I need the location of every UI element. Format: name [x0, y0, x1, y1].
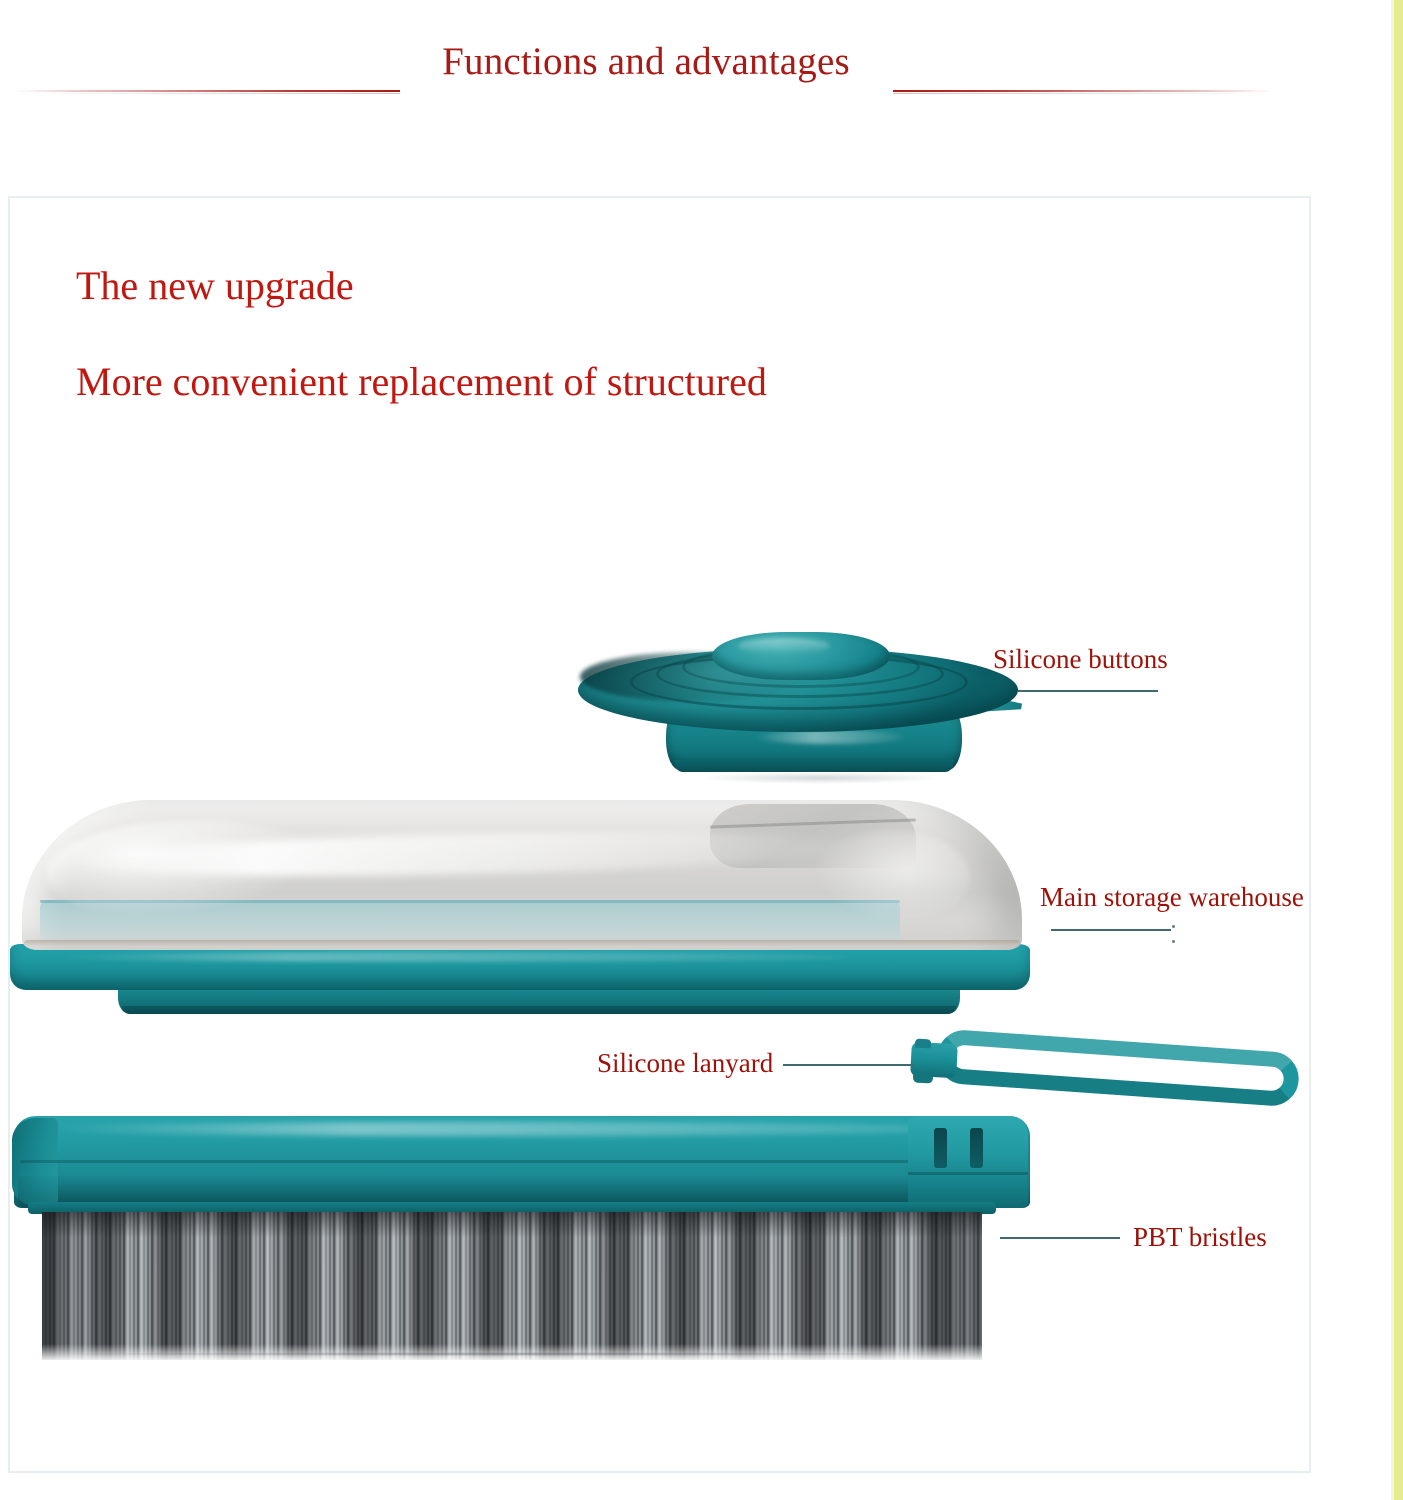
bristle-root-shadow [42, 1212, 982, 1238]
dome-gloss-right [810, 830, 970, 926]
edge-accent-stripe [1394, 0, 1403, 1500]
callout-label-silicone-lanyard: Silicone lanyard [597, 1047, 773, 1079]
callout-label-pbt-bristles: PBT bristles [1133, 1221, 1267, 1253]
brush-head-assembly [8, 1116, 1038, 1364]
cap-drop-shadow [696, 772, 944, 784]
page-title: Functions and advantages [396, 38, 896, 86]
storage-warehouse-assembly [10, 800, 1030, 1010]
brush-clip-mount [908, 1116, 1028, 1208]
lanyard-clip-notch [915, 1039, 931, 1049]
brush-body-seam-line [20, 1160, 980, 1163]
cap-base-foot [674, 760, 954, 772]
intro-heading-line-1: The new upgrade [76, 262, 354, 310]
leader-line-silicone-lanyard [783, 1064, 913, 1066]
cap-base-gloss [754, 730, 904, 744]
cap-center-button-gloss [738, 638, 830, 654]
title-rule-right-icon [893, 90, 1273, 92]
brush-clip-slot-right [970, 1128, 983, 1168]
storage-plinth-shadow [122, 1006, 956, 1014]
pbt-bristle-field [42, 1212, 982, 1360]
leader-line-pbt-bristles [1000, 1237, 1120, 1239]
silicone-lanyard-strap [905, 1035, 1305, 1107]
leader-line-main-storage-warehouse [1051, 929, 1171, 931]
brush-body-highlight [48, 1122, 948, 1136]
leader-line-silicone-buttons [1018, 690, 1158, 692]
silicone-button-cap [578, 632, 1020, 778]
brush-clip-edge [908, 1172, 1028, 1175]
title-rule-left-soft-icon [30, 93, 400, 94]
storage-teal-base [10, 944, 1030, 990]
dome-rim [24, 940, 1020, 946]
leader-dot-lower-main-storage [1172, 940, 1175, 943]
storage-base-gloss [50, 952, 850, 962]
lanyard-clip-tail [913, 1072, 933, 1083]
title-rule-left-icon [14, 90, 400, 92]
callout-label-main-storage-warehouse: Main storage warehouse [1040, 881, 1304, 913]
brush-clip-slot-left [934, 1128, 947, 1168]
callout-label-silicone-buttons: Silicone buttons [993, 643, 1168, 675]
bristle-contact-shadow [48, 1352, 964, 1356]
intro-heading-line-2: More convenient replacement of structure… [76, 358, 767, 406]
title-rule-right-soft-icon [893, 93, 1263, 94]
leader-dot-upper-main-storage [1172, 925, 1175, 928]
lanyard-loop-shading [936, 1028, 1301, 1107]
